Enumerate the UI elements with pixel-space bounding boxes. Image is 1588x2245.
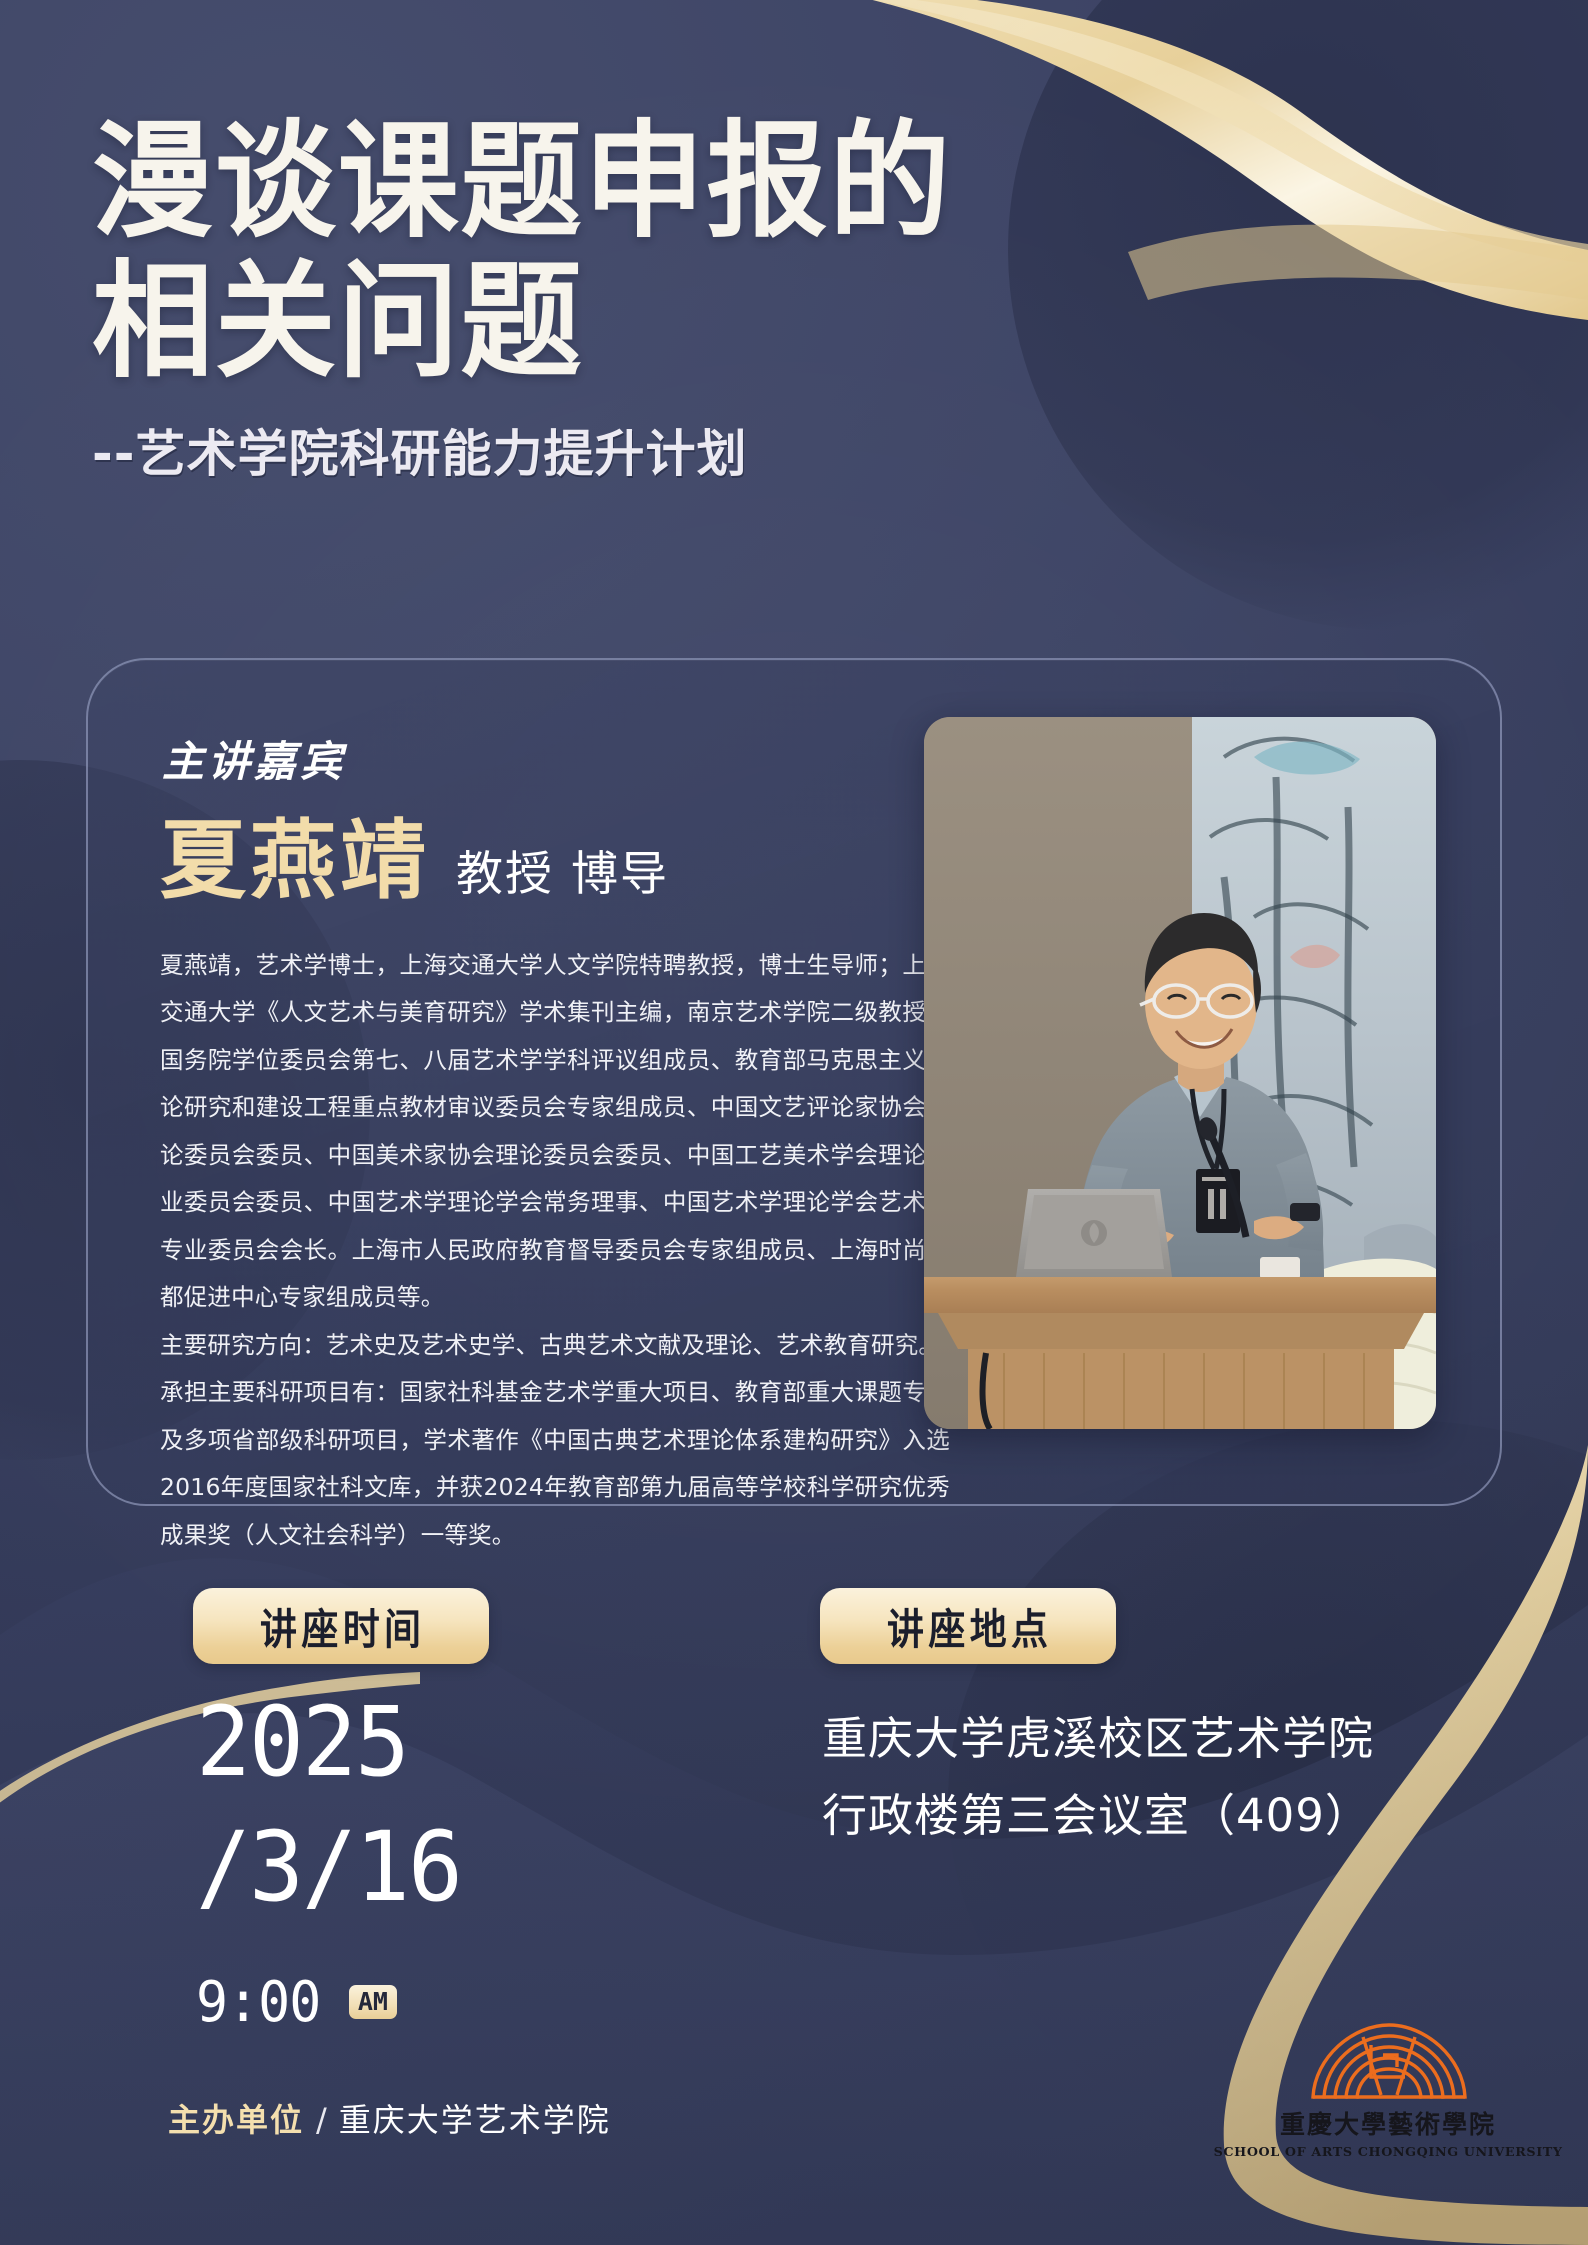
school-logo: 重慶大學藝術學院 SCHOOL OF ARTS CHONGQING UNIVER… <box>1263 2015 1513 2190</box>
lecture-place-badge: 讲座地点 <box>820 1588 1116 1664</box>
location-line-2: 行政楼第三会议室（409） <box>822 1777 1374 1854</box>
lecture-time: 9:00 <box>196 1970 320 2035</box>
bio-paragraph: 夏燕靖，艺术学博士，上海交通大学人文学院特聘教授，博士生导师；上海交通大学《人文… <box>160 942 950 1322</box>
speaker-photo-illustration <box>924 717 1436 1429</box>
speaker-name: 夏燕靖 <box>160 818 430 904</box>
poster-subtitle: --艺术学院科研能力提升计划 <box>92 414 988 486</box>
lecture-poster: 漫谈课题申报的 相关问题 --艺术学院科研能力提升计划 主讲嘉宾 夏燕靖 教授 … <box>0 0 1588 2245</box>
bio-paragraph: 承担主要科研项目有：国家社科基金艺术学重大项目、教育部重大课题专项及多项省部级科… <box>160 1369 950 1559</box>
lecture-time-badge-label: 讲座时间 <box>256 1596 426 1657</box>
speaker-heading: 夏燕靖 教授 博导 <box>160 818 669 904</box>
host-label: 主讲嘉宾 <box>162 728 346 789</box>
lecture-time-badge: 讲座时间 <box>193 1588 489 1664</box>
date-month-day: /3/16 <box>196 1805 461 1930</box>
lecture-location: 重庆大学虎溪校区艺术学院 行政楼第三会议室（409） <box>822 1700 1374 1855</box>
speaker-card: 主讲嘉宾 夏燕靖 教授 博导 夏燕靖，艺术学博士，上海交通大学人文学院特聘教授，… <box>86 658 1502 1506</box>
fan-emblem-icon <box>1301 2015 1476 2101</box>
logo-chinese-name: 重慶大學藝術學院 <box>1280 2105 1496 2141</box>
date-year: 2025 <box>196 1680 461 1805</box>
organizer-label: 主办单位 <box>168 2095 304 2141</box>
lecture-datetime: 2025 /3/16 9:00 AM <box>196 1680 475 2035</box>
organizer-name: 重庆大学艺术学院 <box>339 2095 611 2141</box>
title-line-1: 漫谈课题申报的 <box>92 112 952 252</box>
title-line-2: 相关问题 <box>92 252 952 392</box>
organizer-footer: 主办单位 / 重庆大学艺术学院 <box>168 2095 611 2141</box>
ampm-badge: AM <box>349 1985 397 2019</box>
page-title: 漫谈课题申报的 相关问题 --艺术学院科研能力提升计划 <box>92 112 988 486</box>
speaker-bio: 夏燕靖，艺术学博士，上海交通大学人文学院特聘教授，博士生导师；上海交通大学《人文… <box>160 942 950 1559</box>
organizer-separator: / <box>316 2101 327 2139</box>
speaker-photo <box>924 717 1436 1429</box>
lecture-time-row: 9:00 AM <box>196 1970 475 2035</box>
lecture-place-badge-label: 讲座地点 <box>883 1596 1053 1657</box>
bio-paragraph: 主要研究方向：艺术史及艺术史学、古典艺术文献及理论、艺术教育研究。 <box>160 1322 950 1369</box>
location-line-1: 重庆大学虎溪校区艺术学院 <box>822 1700 1374 1777</box>
logo-english-name: SCHOOL OF ARTS CHONGQING UNIVERSITY <box>1213 2144 1562 2159</box>
speaker-academic-title: 教授 博导 <box>456 835 669 904</box>
